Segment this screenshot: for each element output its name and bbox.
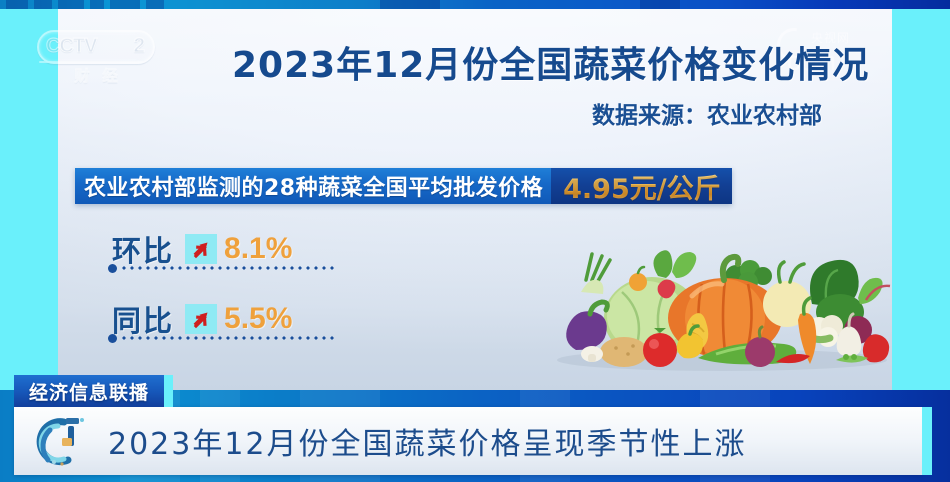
page-title: 2023年12月份全国蔬菜价格变化情况 xyxy=(232,36,869,88)
stat-value-mom: 8.1% xyxy=(224,232,292,266)
program-name-tab: 经济信息联播 xyxy=(14,375,164,407)
cctv-channel-number: 2 xyxy=(133,34,145,58)
cctv2-channel-logo: CCTV 2 财经 xyxy=(37,30,157,90)
ticker-headline: 2023年12月份全国蔬菜价格呈现季节性上涨 xyxy=(108,419,747,463)
cctv-wordmark: CCTV xyxy=(46,35,96,58)
arrow-up-right-icon xyxy=(185,234,217,264)
average-price-banner: 农业农村部监测的28种蔬菜全国平均批发价格 4.95元/公斤 xyxy=(75,168,732,204)
vegetables-illustration xyxy=(540,240,900,372)
news-ticker-bar: 2023年12月份全国蔬菜价格呈现季节性上涨 xyxy=(14,407,922,475)
logo-underline xyxy=(39,61,143,63)
stat-label-mom: 环比 xyxy=(112,228,174,270)
banner-label: 农业农村部监测的28种蔬菜全国平均批发价格 xyxy=(75,168,551,204)
cctv-channel-subtitle: 财经 xyxy=(58,65,134,86)
stat-row-mom: 环比 8.1% xyxy=(112,229,292,269)
cctv-finance-swoosh-icon xyxy=(24,412,98,470)
ticker-accent-bar xyxy=(922,407,932,475)
banner-price-value: 4.95元/公斤 xyxy=(563,167,720,206)
arrow-up-right-icon xyxy=(185,304,217,334)
broadcast-graphic-screen: CCTV 2 财经 央视网 com 2023年12月份全国蔬菜价格变化情况 数据… xyxy=(0,0,950,482)
data-source-label: 数据来源：农业农村部 xyxy=(592,96,822,130)
top-blue-strip xyxy=(0,0,950,9)
stat-row-yoy: 同比 5.5% xyxy=(112,299,292,339)
stat-value-yoy: 5.5% xyxy=(224,302,292,336)
stat-label-yoy: 同比 xyxy=(112,298,174,340)
program-name-label: 经济信息联播 xyxy=(29,378,149,405)
banner-price-box: 4.95元/公斤 xyxy=(551,168,731,204)
right-cyan-rail xyxy=(892,9,950,390)
program-tab-accent xyxy=(164,375,173,407)
